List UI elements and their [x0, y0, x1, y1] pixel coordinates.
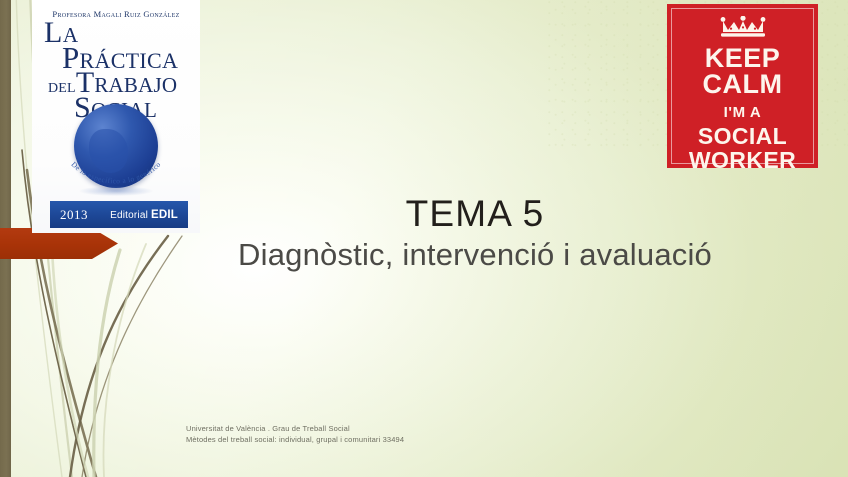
globe-arc-svg: De lo específico a lo genérico [55, 140, 177, 196]
globe-arc-text: De lo específico a lo genérico [69, 160, 162, 186]
book-publisher: Editorial EDIL [110, 209, 178, 221]
globe-arc-text-container: De lo específico a lo genérico [55, 140, 177, 196]
poster-line-ima: I'M A [724, 105, 762, 120]
footer-line-course: Mètodes del treball social: individual, … [186, 435, 404, 446]
footer-line-institution: Universitat de València . Grau de Trebal… [186, 424, 404, 435]
book-year: 2013 [60, 207, 88, 223]
slide-subtitle: Diagnòstic, intervenció i avaluació [185, 236, 765, 273]
poster-line-social: SOCIAL [698, 125, 787, 148]
poster-line-worker: WORKER [689, 149, 796, 172]
book-cover-image: Profesora Magali Ruiz González La Prácti… [32, 0, 200, 233]
poster-frame: KEEP CALM I'M A SOCIAL WORKER [671, 8, 814, 164]
crown-icon-svg [717, 16, 769, 38]
presentation-slide: Profesora Magali Ruiz González La Prácti… [0, 0, 848, 477]
book-publisher-prefix: Editorial [110, 210, 151, 221]
poster-line-calm: CALM [703, 71, 783, 98]
slide-title: TEMA 5 [185, 193, 765, 234]
book-cover-canvas: Profesora Magali Ruiz González La Prácti… [32, 0, 200, 233]
slide-footer: Universitat de València . Grau de Trebal… [186, 424, 404, 446]
keep-calm-poster: KEEP CALM I'M A SOCIAL WORKER [667, 4, 818, 168]
slide-title-block: TEMA 5 Diagnòstic, intervenció i avaluac… [185, 193, 765, 274]
book-title-line-3-prefix: del [48, 75, 76, 97]
crown-icon [717, 16, 769, 43]
book-footer-bar: 2013 Editorial EDIL [50, 201, 188, 228]
poster-line-keep: KEEP [705, 45, 781, 71]
book-publisher-name: EDIL [151, 209, 178, 221]
